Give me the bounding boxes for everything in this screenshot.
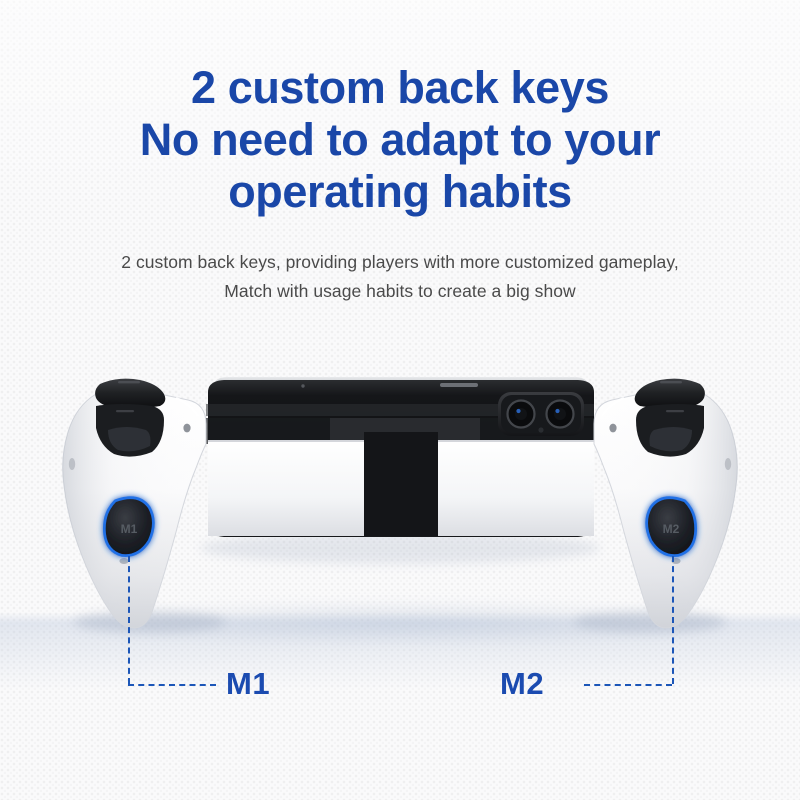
camera-flash-icon xyxy=(538,427,543,432)
right-grip xyxy=(594,379,737,628)
phone-earpiece-slot xyxy=(440,383,478,387)
camera-lens-2 xyxy=(547,401,574,428)
page-subcopy: 2 custom back keys, providing players wi… xyxy=(0,248,800,306)
phone-mic-icon xyxy=(301,384,304,387)
camera-lens-1 xyxy=(508,401,535,428)
phone-speaker-grille xyxy=(274,526,469,530)
r1-trigger-button xyxy=(635,379,705,409)
m2-callout-label: M2 xyxy=(500,668,544,699)
left-body-port xyxy=(183,424,190,433)
m2-back-paddle-button: M2 xyxy=(648,499,694,554)
phone-body xyxy=(208,380,594,537)
l1-trigger-button xyxy=(95,379,165,409)
page-headline: 2 custom back keys No need to adapt to y… xyxy=(0,62,800,218)
left-body-vent xyxy=(69,458,75,470)
m1-back-paddle-button: M1 xyxy=(106,499,152,554)
m2-callout-horizontal-line xyxy=(584,684,672,686)
right-clamp-arm xyxy=(438,440,594,536)
left-clamp-arm xyxy=(208,440,364,536)
left-grip xyxy=(63,379,206,628)
center-bridge xyxy=(364,432,438,536)
mounted-phone xyxy=(206,377,594,537)
phone-frame-rim xyxy=(214,377,588,396)
m1-paddle-label: M1 xyxy=(121,522,138,536)
center-shadow xyxy=(200,532,600,564)
right-body-port xyxy=(609,424,616,433)
m2-paddle-label: M2 xyxy=(663,522,680,536)
left-shoulder-triggers xyxy=(95,379,165,457)
r2-trigger-button xyxy=(636,404,704,457)
m1-callout-vertical-line xyxy=(128,556,130,684)
right-body-vent xyxy=(725,458,731,470)
phone-camera-module xyxy=(498,392,584,436)
m2-callout-vertical-line xyxy=(672,556,674,684)
l2-trigger-button xyxy=(96,404,164,457)
product-marketing-banner: 2 custom back keys No need to adapt to y… xyxy=(0,0,800,800)
right-shoulder-triggers xyxy=(635,379,705,457)
m1-callout-label: M1 xyxy=(226,668,270,699)
surface-shadow-band xyxy=(0,612,800,690)
m1-callout-horizontal-line xyxy=(128,684,216,686)
